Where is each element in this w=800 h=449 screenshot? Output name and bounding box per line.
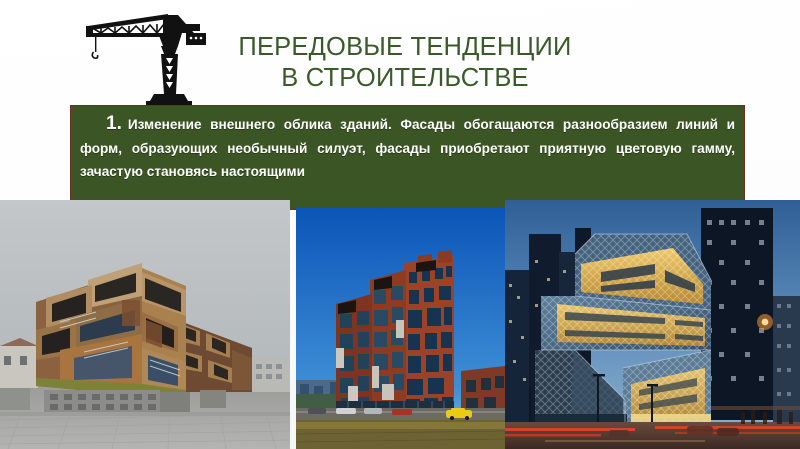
construction-crane-icon (60, 2, 220, 106)
red-brick-irregular-facade-photo (296, 208, 505, 449)
glass-diamond-grid-library-photo (505, 200, 800, 449)
modular-cantilever-apartments-photo (0, 200, 290, 449)
callout-number: 1. (106, 113, 122, 134)
callout-box: 1.Изменение внешнего облика зданий. Фаса… (70, 105, 745, 210)
slide-canvas: ПЕРЕДОВЫЕ ТЕНДЕНЦИИ В СТРОИТЕЛЬСТВЕ 1.Из… (0, 0, 800, 449)
callout-body: Изменение внешнего облика зданий. Фасады… (80, 117, 735, 179)
callout-text: 1.Изменение внешнего облика зданий. Фаса… (71, 106, 744, 184)
page-title: ПЕРЕДОВЫЕ ТЕНДЕНЦИИ В СТРОИТЕЛЬСТВЕ (205, 32, 605, 94)
